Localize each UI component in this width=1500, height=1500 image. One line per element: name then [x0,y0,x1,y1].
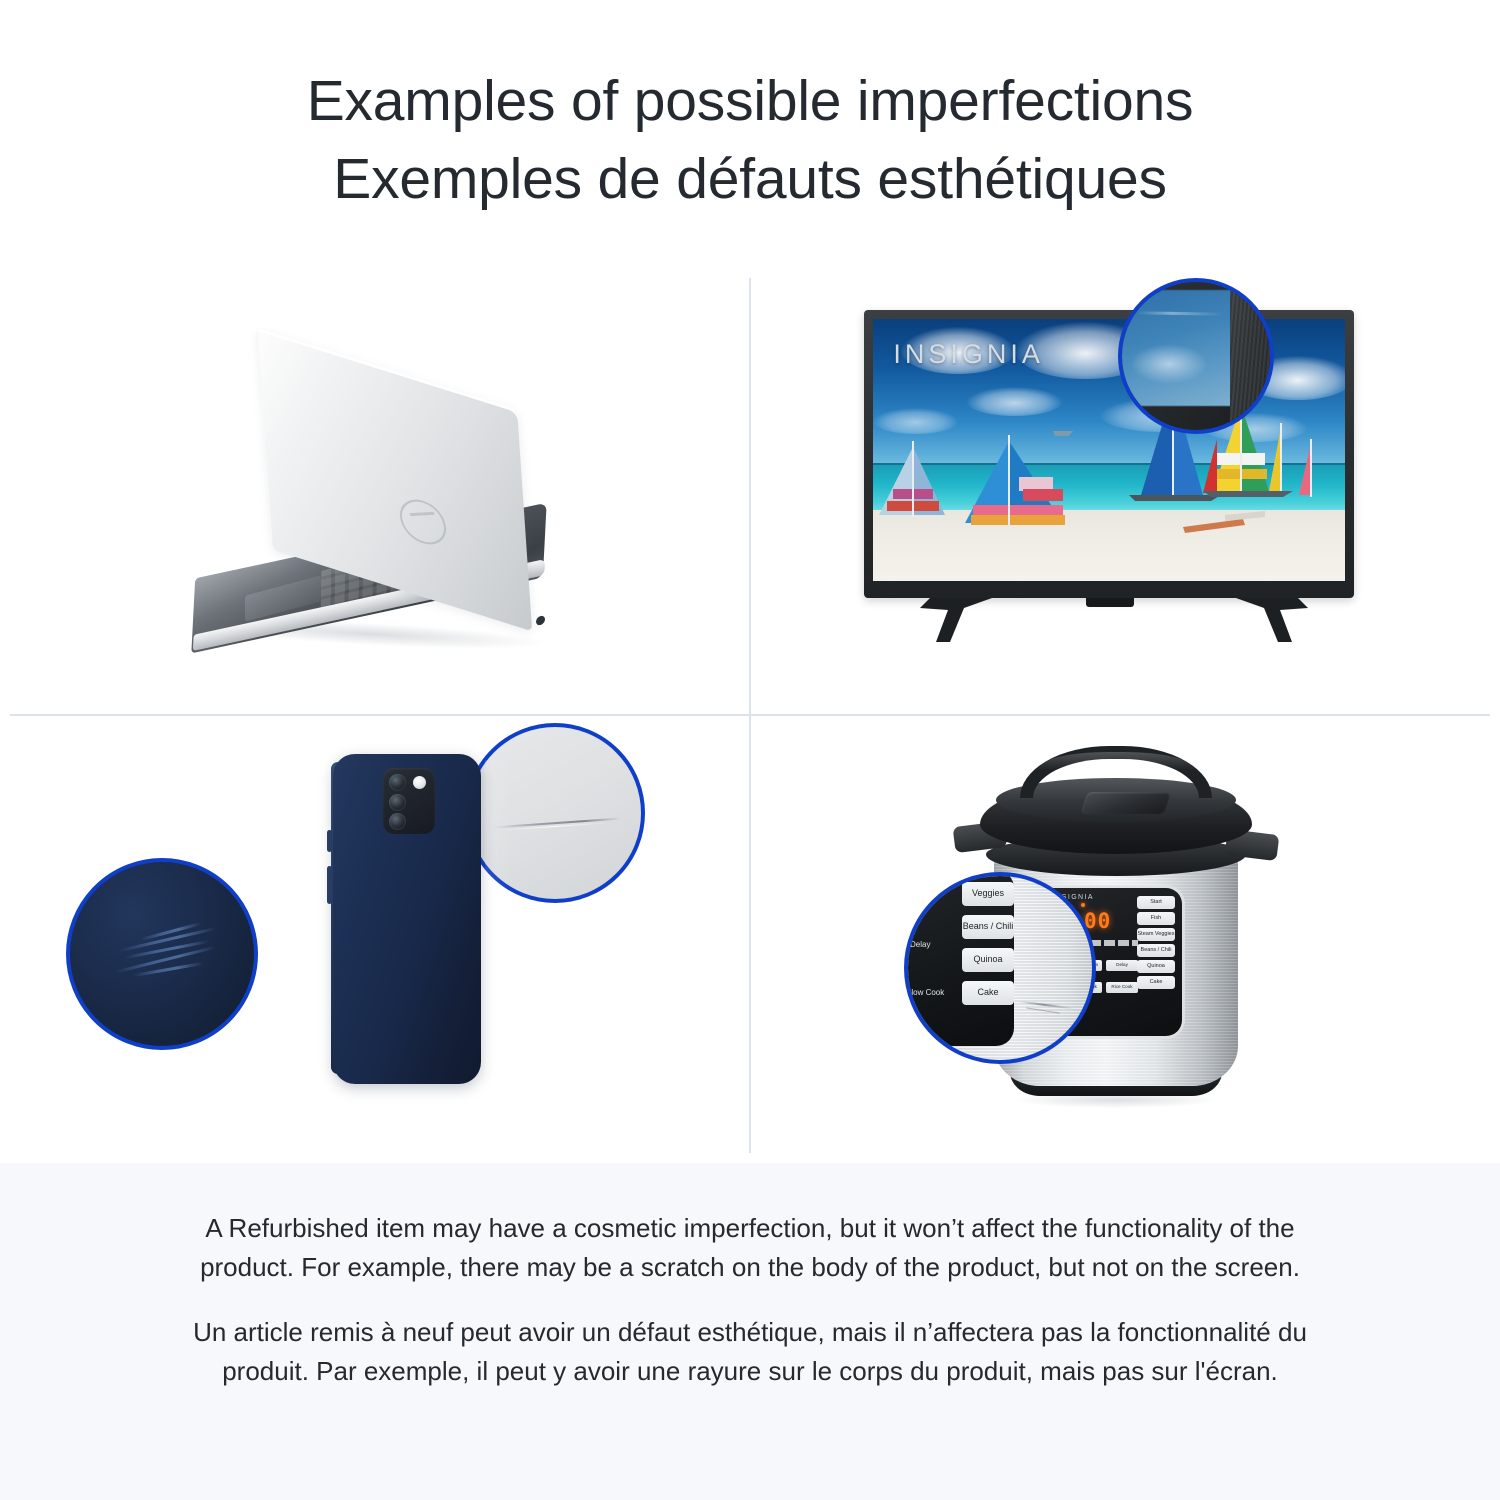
cooker-magnified-button-cake[interactable]: Cake [962,981,1014,1005]
phone-power-button [327,866,332,904]
examples-grid: INSIGNIA [0,268,1500,1163]
camera-lens-icon [389,813,406,830]
page-header: Examples of possible imperfections Exemp… [0,0,1500,268]
magnifier-tv-bezel-scuff [1118,278,1274,434]
refurbished-imperfections-infographic: Examples of possible imperfections Exemp… [0,0,1500,1500]
page-title-french: Exemples de défauts esthétiques [333,140,1167,218]
cooker-magnified-button-quinoa[interactable]: Quinoa [962,948,1014,972]
magnifier-cooker-scratch: Delay Slow Cook Veggies Beans / Chili Qu… [904,872,1096,1064]
cooker-right-button-column: Start Fish Steam Veggies Beans / Chili Q… [1136,896,1176,1032]
camera-flash-icon [413,776,426,789]
smartphone-illustration [293,754,493,1129]
cooker-button-fish[interactable]: Fish [1137,912,1175,925]
cooker-magnified-button-veggies[interactable]: Veggies [962,882,1014,906]
tv-magnified-cloud [1130,344,1208,384]
example-cell-pressure-cooker: INSIGNIA 8:00 Manual Keep Warm Delay Bro… [750,716,1500,1163]
cooker-button-quinoa[interactable]: Quinoa [1137,960,1175,973]
phone-rear-panel [333,754,481,1084]
cooker-button-delay[interactable]: Delay [1106,960,1138,971]
tv-stand-legs [864,598,1354,668]
magnifier-phone-scratches [66,858,258,1050]
cooker-magnified-label-delay: Delay [910,940,930,949]
footer-disclaimer: A Refurbished item may have a cosmetic i… [0,1163,1500,1500]
tv-chassis: INSIGNIA [864,310,1354,598]
cooker-magnified-label-slow-cook: Slow Cook [906,988,944,997]
cooker-magnified-button-beans-chili[interactable]: Beans / Chili [962,915,1014,939]
tv-magnified-bezel [1230,282,1274,434]
disclaimer-french: Un article remis à neuf peut avoir un dé… [170,1313,1330,1391]
page-title-english: Examples of possible imperfections [307,62,1194,140]
cooker-button-beans-chili[interactable]: Beans / Chili [1137,944,1175,957]
example-cell-television: INSIGNIA [750,268,1500,715]
phone-gloss-highlight [485,760,515,1078]
phone-camera-module [383,768,435,834]
camera-lens-icon [389,794,406,811]
cooker-button-start[interactable]: Start [1137,896,1175,909]
camera-lens-icon [389,774,406,791]
cooker-button-rice-cook[interactable]: Rice Cook [1106,982,1138,993]
phone-volume-button [327,830,332,852]
tv-brand-logo: INSIGNIA [893,339,1044,370]
example-cell-smartphone [0,716,750,1163]
cooker-button-steam-veggies[interactable]: Steam Veggies [1137,928,1175,941]
laptop-audio-jack-icon [536,615,545,626]
example-cell-laptop [0,268,750,715]
laptop-illustration [185,373,585,663]
cooker-button-cake[interactable]: Cake [1137,976,1175,989]
cooker-magnified-button-column: Veggies Beans / Chili Quinoa Cake [962,882,1014,1005]
disclaimer-english: A Refurbished item may have a cosmetic i… [170,1209,1330,1287]
